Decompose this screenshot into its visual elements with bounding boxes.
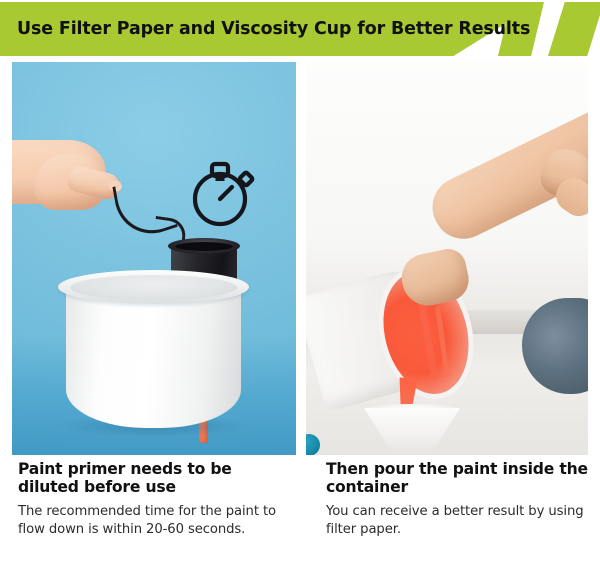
caption-left-heading: Paint primer needs to be diluted before … bbox=[18, 460, 290, 497]
stopwatch-icon bbox=[187, 150, 259, 230]
photo-row bbox=[0, 62, 600, 455]
caption-left: Paint primer needs to be diluted before … bbox=[18, 460, 290, 540]
white-bucket-interior bbox=[70, 275, 237, 300]
header-banner: Use Filter Paper and Viscosity Cup for B… bbox=[0, 2, 600, 56]
banner-diagonal-stripe-2 bbox=[548, 2, 600, 56]
caption-right: Then pour the paint inside the container… bbox=[326, 460, 592, 540]
page-title: Use Filter Paper and Viscosity Cup for B… bbox=[17, 2, 530, 56]
viscosity-cup-rim-inner bbox=[175, 242, 233, 251]
photo-right-pouring-paint bbox=[306, 62, 588, 455]
caption-left-body: The recommended time for the paint to fl… bbox=[18, 503, 290, 540]
infographic-page: Use Filter Paper and Viscosity Cup for B… bbox=[0, 0, 600, 569]
photo-left-viscosity-cup bbox=[12, 62, 296, 455]
caption-right-body: You can receive a better result by using… bbox=[326, 503, 592, 540]
caption-right-heading: Then pour the paint inside the container bbox=[326, 460, 592, 497]
caption-row: Paint primer needs to be diluted before … bbox=[0, 460, 600, 569]
